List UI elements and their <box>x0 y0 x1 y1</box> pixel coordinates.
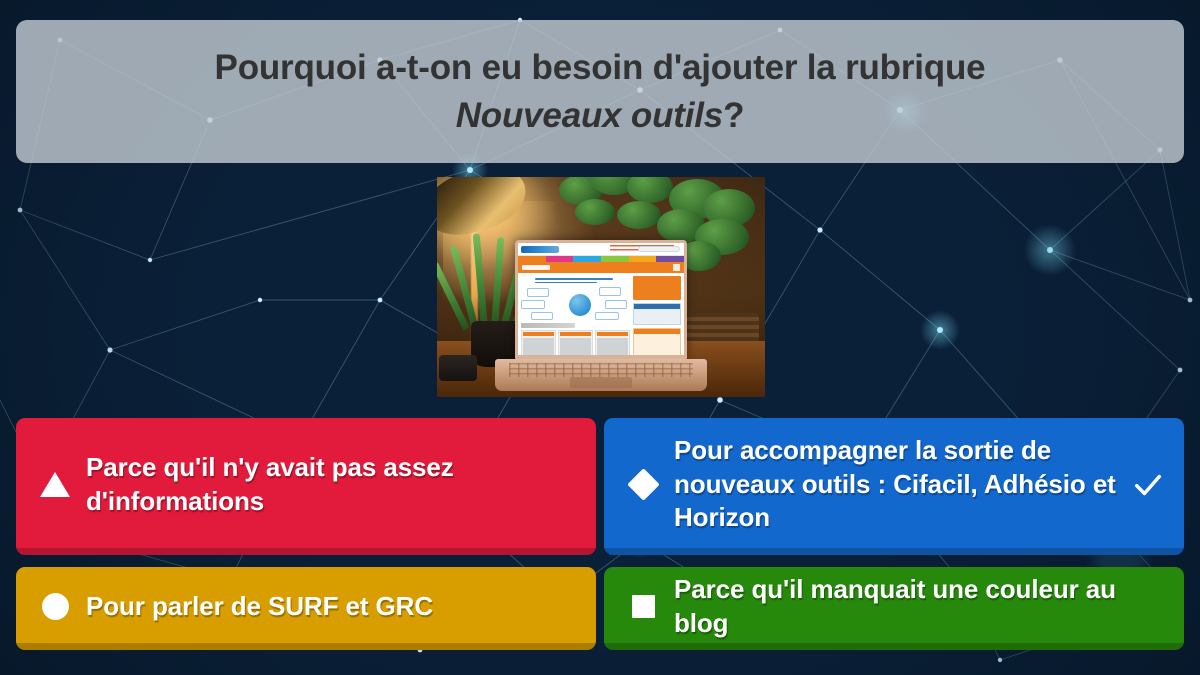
site-logo-icon <box>521 246 559 253</box>
triangle-icon <box>38 468 72 502</box>
laptop-computer <box>495 240 707 391</box>
site-news-heading <box>521 323 575 328</box>
site-main-column <box>521 276 630 352</box>
question-mark: ? <box>723 96 744 135</box>
site-search-input <box>638 246 680 252</box>
site-content <box>518 273 684 355</box>
laptop-screen <box>518 243 684 355</box>
site-header <box>518 243 684 256</box>
answer-option-1[interactable]: Parce qu'il n'y avait pas assez d'inform… <box>16 418 596 555</box>
site-news-cards <box>521 330 630 355</box>
laptop-keyboard-base <box>495 359 707 391</box>
sidebar-flash-info-box <box>633 328 681 355</box>
sidebar-blue-box <box>633 303 681 325</box>
answer-option-2-check-icon <box>1128 468 1168 502</box>
diamond-icon <box>626 468 660 502</box>
question-media-image <box>437 177 765 397</box>
question-line-1: Pourquoi a-t-on eu besoin d'ajouter la r… <box>215 46 986 89</box>
laptop-lid <box>515 240 687 359</box>
question-emphasis: Nouveaux outils <box>456 96 723 135</box>
square-icon <box>626 590 660 624</box>
question-line-2: Nouveaux outils? <box>456 94 745 137</box>
camera-object <box>439 355 477 381</box>
website-screenshot <box>518 243 684 355</box>
quiz-slide: Pourquoi a-t-on eu besoin d'ajouter la r… <box>0 0 1200 675</box>
site-sidebar <box>633 276 681 352</box>
answer-option-2[interactable]: Pour accompagner la sortie de nouveaux o… <box>604 418 1184 555</box>
keyboard-keys <box>509 363 693 377</box>
answer-option-2-label: Pour accompagner la sortie de nouveaux o… <box>674 434 1118 535</box>
answer-option-3[interactable]: Pour parler de SURF et GRC <box>16 567 596 650</box>
laptop-trackpad <box>570 377 632 388</box>
sidebar-orange-box <box>633 276 681 300</box>
answer-option-4[interactable]: Parce qu'il manquait une couleur au blog <box>604 567 1184 650</box>
site-section-title <box>518 262 684 273</box>
question-panel: Pourquoi a-t-on eu besoin d'ajouter la r… <box>16 20 1184 163</box>
answer-option-3-label: Pour parler de SURF et GRC <box>86 590 530 624</box>
answer-option-1-label: Parce qu'il n'y avait pas assez d'inform… <box>86 451 530 519</box>
answer-option-4-label: Parce qu'il manquait une couleur au blog <box>674 573 1118 641</box>
answer-grid: Parce qu'il n'y avait pas assez d'inform… <box>16 418 1184 650</box>
desk-photo <box>437 177 765 397</box>
site-diagram <box>521 286 630 320</box>
circle-icon <box>38 590 72 624</box>
